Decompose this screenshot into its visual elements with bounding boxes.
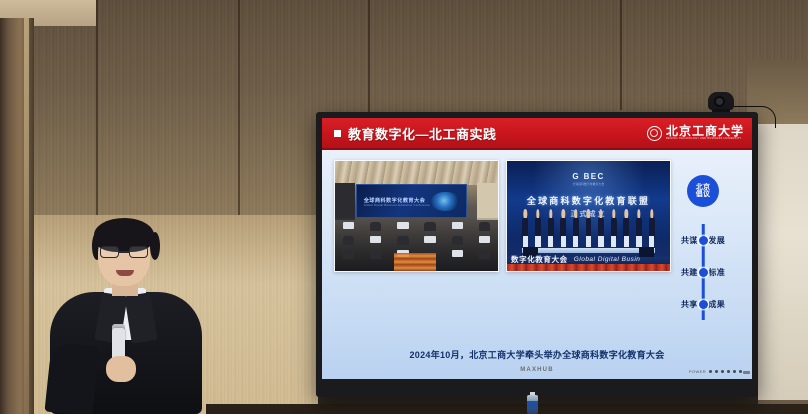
stage-podium bbox=[522, 248, 656, 254]
red-carpet bbox=[507, 264, 670, 271]
seat bbox=[424, 222, 435, 231]
diagram-row-left-label: 共建 bbox=[681, 267, 698, 278]
stage-scene: G BEC 全球商科数字化教育大会 全球商科数字化教育联盟 正式成立 bbox=[507, 161, 670, 271]
water-bottle bbox=[527, 392, 538, 414]
beijing-initiative-diagram: 北京 倡议 共谋 发展 共建 bbox=[658, 160, 748, 330]
diagram-row-right-label: 成果 bbox=[708, 299, 725, 310]
seat bbox=[452, 222, 463, 229]
digital-globe-graphic bbox=[431, 192, 459, 212]
hall-right-wall bbox=[477, 183, 498, 220]
stage-front-banner: 数字化教育大会 Global Digital Busin bbox=[507, 255, 670, 265]
diagram-row-right-label: 标准 bbox=[708, 267, 725, 278]
center-aisle-carpet bbox=[394, 253, 436, 271]
hall-audience bbox=[335, 218, 498, 271]
presenter-person bbox=[46, 218, 206, 414]
photo-stage-ceremony: G BEC 全球商科数字化教育大会 全球商科数字化教育联盟 正式成立 bbox=[506, 160, 671, 272]
wall-seam bbox=[620, 0, 622, 110]
person bbox=[648, 209, 655, 246]
seat bbox=[479, 236, 490, 243]
hall-stage-screen: 全球商科数字化教育大会 Global Digital Business Educ… bbox=[356, 184, 467, 218]
seat bbox=[343, 236, 354, 245]
ir-receiver-icon bbox=[743, 371, 750, 374]
display-bottom-bezel: MAXHUB POWER bbox=[322, 361, 752, 379]
presenter-hand bbox=[106, 356, 136, 382]
display-control-buttons[interactable] bbox=[709, 370, 742, 373]
person bbox=[534, 209, 541, 246]
diagram-center-line1: 北京 bbox=[696, 184, 711, 191]
person bbox=[585, 209, 592, 246]
wall-seam bbox=[368, 0, 370, 120]
seal-icon bbox=[647, 126, 662, 141]
diagram-row-left-label: 共享 bbox=[681, 299, 698, 310]
room-scene: 教育数字化—北工商实践 北京工商大学 BEIJING TECHNOLOGY AN… bbox=[0, 0, 808, 414]
seat bbox=[479, 250, 490, 259]
seat bbox=[343, 222, 354, 229]
presentation-slide: 教育数字化—北工商实践 北京工商大学 BEIJING TECHNOLOGY AN… bbox=[322, 118, 752, 379]
seat bbox=[424, 236, 435, 243]
bottle-label bbox=[527, 401, 538, 408]
person bbox=[547, 209, 554, 246]
seat bbox=[397, 222, 408, 229]
slide-header: 教育数字化—北工商实践 北京工商大学 BEIJING TECHNOLOGY AN… bbox=[322, 118, 752, 148]
university-logo: 北京工商大学 BEIJING TECHNOLOGY AND BUSINESS U… bbox=[647, 125, 744, 141]
diagram-node-icon bbox=[699, 236, 708, 245]
logo-chinese-name: 北京工商大学 bbox=[666, 125, 744, 137]
diagram-center-line2: 倡议 bbox=[696, 191, 711, 198]
sunburst-graphic: 北京 倡议 bbox=[665, 160, 741, 222]
presenter-left-arm bbox=[44, 342, 99, 414]
logo-english-name: BEIJING TECHNOLOGY AND BUSINESS UNIVERSI… bbox=[666, 138, 744, 141]
table-front-edge bbox=[206, 404, 808, 414]
interactive-display[interactable]: 教育数字化—北工商实践 北京工商大学 BEIJING TECHNOLOGY AN… bbox=[316, 112, 758, 397]
hall-left-wall bbox=[335, 183, 355, 220]
slide-caption: 2024年10月，北京工商大学牵头举办全球商科数字化教育大会 bbox=[322, 348, 752, 361]
display-brand-logo: MAXHUB bbox=[520, 367, 554, 373]
seat bbox=[397, 236, 408, 245]
person bbox=[635, 209, 642, 246]
seat bbox=[370, 222, 381, 231]
diagram-row-right-label: 发展 bbox=[708, 235, 725, 246]
diagram-rows: 共谋 发展 共建 标准 共享 bbox=[658, 224, 748, 320]
banner-english-text: Global Digital Busin bbox=[574, 256, 641, 263]
stage-people-row bbox=[522, 209, 656, 246]
stage-screen-title: 全球商科数字化教育联盟 bbox=[527, 194, 650, 207]
person bbox=[572, 209, 579, 246]
display-screen[interactable]: 教育数字化—北工商实践 北京工商大学 BEIJING TECHNOLOGY AN… bbox=[322, 118, 752, 379]
logo-text: 北京工商大学 BEIJING TECHNOLOGY AND BUSINESS U… bbox=[666, 125, 744, 141]
seat bbox=[370, 236, 381, 243]
slide-title-group: 教育数字化—北工商实践 bbox=[334, 124, 497, 143]
seat bbox=[479, 222, 490, 231]
slide-body: 全球商科数字化教育大会 Global Digital Business Educ… bbox=[322, 148, 752, 379]
photo-group: 全球商科数字化教育大会 Global Digital Business Educ… bbox=[326, 156, 671, 379]
seat bbox=[452, 236, 463, 245]
person bbox=[610, 209, 617, 246]
person bbox=[597, 209, 604, 246]
gdbec-logo-text: G BEC bbox=[572, 172, 604, 181]
gdbec-logo-subtext: 全球商科数字化教育大会 bbox=[572, 182, 604, 186]
person bbox=[560, 209, 567, 246]
banner-chinese-text: 数字化教育大会 bbox=[511, 254, 568, 265]
diagram-node-icon bbox=[699, 300, 708, 309]
diagram-row: 共建 标准 bbox=[658, 256, 748, 288]
seat bbox=[370, 250, 381, 259]
door-gap bbox=[24, 18, 29, 414]
seat bbox=[452, 250, 463, 257]
diagram-row-left-label: 共谋 bbox=[681, 235, 698, 246]
diagram-center-label: 北京 倡议 bbox=[687, 175, 719, 207]
photo-conference-hall: 全球商科数字化教育大会 Global Digital Business Educ… bbox=[334, 160, 499, 272]
person bbox=[522, 209, 529, 246]
diagram-row: 共享 成果 bbox=[658, 288, 748, 320]
diagram-row: 共谋 发展 bbox=[658, 224, 748, 256]
hall-ceiling bbox=[335, 161, 498, 185]
hall-screen-subtitle: Global Digital Business Education Confer… bbox=[364, 204, 430, 207]
seat bbox=[343, 250, 354, 259]
hall-screen-title: 全球商科数字化教育大会 bbox=[364, 197, 425, 204]
diagram-node-icon bbox=[699, 268, 708, 277]
page-title: 教育数字化—北工商实践 bbox=[348, 124, 497, 143]
gdbec-logo: G BEC 全球商科数字化教育大会 bbox=[572, 172, 604, 186]
camera-lens-icon bbox=[714, 96, 725, 107]
square-bullet-icon bbox=[334, 130, 341, 137]
right-wall-panel bbox=[753, 124, 808, 400]
hall-scene: 全球商科数字化教育大会 Global Digital Business Educ… bbox=[335, 161, 498, 271]
eyeglasses-icon bbox=[100, 246, 148, 258]
display-bezel-label: POWER bbox=[689, 369, 706, 374]
person bbox=[623, 209, 630, 246]
